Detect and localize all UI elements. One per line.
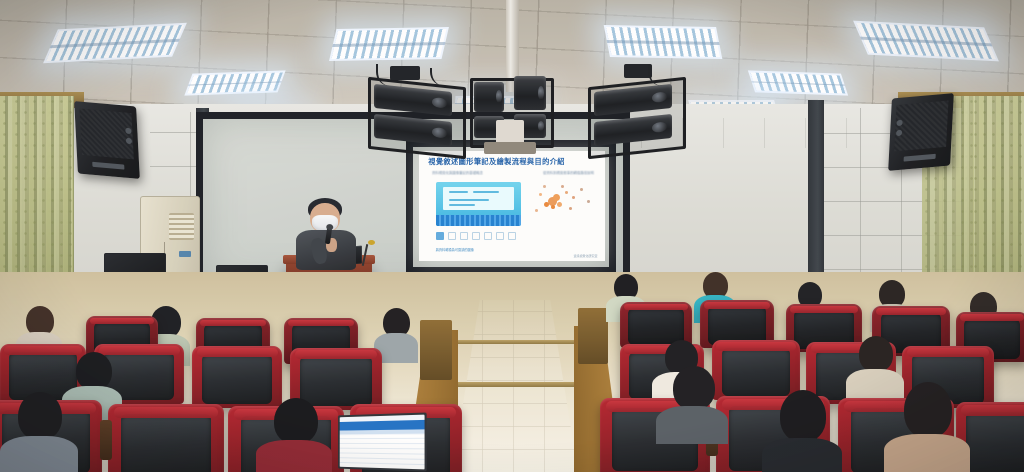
- ceiling-projector-rig-left: [368, 74, 464, 150]
- slide-icon: [460, 232, 468, 240]
- slide-icon: [484, 232, 492, 240]
- ac-control-label: [179, 251, 191, 257]
- speaker-badge: [903, 154, 935, 162]
- speaker-port: [126, 137, 132, 144]
- ceiling-light-fixture: [329, 27, 449, 61]
- projection-screen-active: 視覺敘述圖形筆記及繪製流程與目的介紹 資料視覺化與圖像筆記的基礎概念 從資料到視…: [406, 140, 616, 274]
- aisle-step-edge: [448, 382, 584, 387]
- laptop-display: [340, 415, 425, 470]
- slide-laptop-keyboard: [436, 215, 522, 226]
- cluster-dot: [569, 207, 572, 210]
- ceiling-projector-rig-right: [588, 74, 684, 150]
- slide-icon: [472, 232, 480, 240]
- ceiling-light-fixture: [184, 70, 285, 95]
- cluster-dot: [557, 202, 562, 207]
- speaker-grille: [79, 109, 133, 160]
- cluster-dot: [535, 209, 538, 212]
- audience-head: [780, 390, 826, 442]
- slide-icon: [496, 232, 504, 240]
- projector-cable: [648, 64, 676, 86]
- audience-shoulders: [884, 434, 970, 472]
- audience-member: [256, 398, 332, 472]
- cluster-dot: [553, 194, 560, 201]
- audience-member: [884, 382, 970, 472]
- slide-laptop-row: [449, 204, 475, 206]
- auditorium-seat: [108, 404, 224, 472]
- audience-laptop[interactable]: [338, 412, 427, 471]
- projector-unit: [514, 76, 546, 110]
- cluster-dot: [565, 191, 568, 194]
- ceiling-light-fixture: [748, 70, 848, 95]
- aisle-step-edge: [456, 340, 574, 344]
- slide-icon: [508, 232, 516, 240]
- slide-laptop-graphic: [436, 182, 522, 226]
- slide-title: 視覺敘述圖形筆記及繪製流程與目的介紹: [428, 157, 565, 167]
- wall-speaker-left: [74, 101, 140, 179]
- slide-data-cluster: [531, 180, 598, 224]
- seat-row-end-panel: [420, 320, 452, 380]
- podium-mic-head: [368, 240, 375, 245]
- slide-tagline: 將資料轉換為可閱讀的圖像: [436, 247, 474, 252]
- audience-head: [859, 336, 893, 372]
- audience-head: [673, 366, 715, 410]
- cluster-dot: [572, 196, 575, 199]
- audience-shoulders: [656, 406, 728, 444]
- cluster-dot: [543, 185, 546, 188]
- auditorium-scene: 視覺敘述圖形筆記及繪製流程與目的介紹 資料視覺化與圖像筆記的基礎概念 從資料到視…: [0, 0, 1024, 472]
- audience-head: [904, 382, 952, 438]
- slide-icon-strip: [436, 232, 516, 240]
- audience-shoulders: [0, 436, 78, 472]
- audience-head: [274, 398, 318, 444]
- speaker-grille: [894, 101, 948, 152]
- slide-footer-logo: 資訊視覺化研究室: [574, 254, 598, 258]
- ac-vent: [169, 213, 195, 240]
- cluster-dot: [561, 185, 564, 188]
- audience-member: [0, 392, 78, 472]
- speaker-port: [125, 127, 131, 134]
- cluster-dot: [551, 205, 555, 209]
- wall-speaker-right: [888, 93, 954, 171]
- cluster-dot: [539, 193, 542, 196]
- slide-subtitle-left: 資料視覺化與圖像筆記的基礎概念: [432, 170, 483, 175]
- audience-head: [76, 352, 112, 390]
- slide-laptop-row: [449, 199, 488, 201]
- audience-head: [18, 392, 62, 440]
- projector-housing: [496, 120, 524, 144]
- slide-icon: [436, 232, 444, 240]
- slide-subtitle-right: 從資料到視覺敘事的轉換路徑說明: [543, 170, 594, 175]
- projector-unit: [474, 82, 504, 112]
- projector-base: [484, 142, 536, 154]
- cluster-dot: [580, 188, 583, 191]
- audience-member: [656, 366, 728, 442]
- slide-icon: [448, 232, 456, 240]
- audience-shoulders: [256, 440, 332, 472]
- speaker-badge: [92, 162, 124, 170]
- audience-member: [762, 390, 842, 472]
- ceiling-projector-rig-center: [470, 66, 550, 146]
- cluster-dot: [587, 200, 590, 203]
- ceiling-light-fixture: [604, 25, 723, 59]
- projected-slide: 視覺敘述圖形筆記及繪製流程與目的介紹 資料視覺化與圖像筆記的基礎概念 從資料到視…: [419, 151, 605, 261]
- audience-shoulders: [762, 438, 842, 472]
- seat-armrest: [100, 420, 112, 460]
- seat-row-end-panel: [578, 308, 608, 364]
- cluster-dot: [544, 202, 549, 207]
- presenter: [296, 198, 358, 268]
- spreadsheet-cells: [340, 434, 425, 469]
